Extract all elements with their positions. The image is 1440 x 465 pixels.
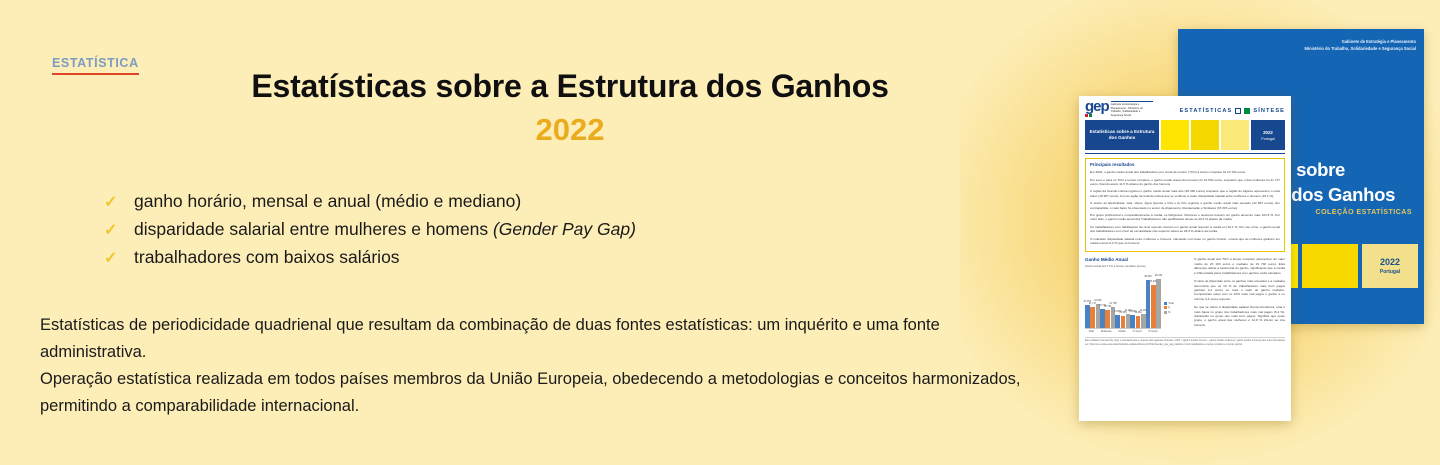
chart-bar-group: 13 85012 95514 100 [1115,314,1130,328]
gep-logo: gep Gabinete de Estratégia e Planeamento… [1085,101,1153,117]
sheet-band-country: Portugal [1261,137,1274,141]
square-outline-icon [1235,108,1241,114]
sheet-right-paragraph: O ganho anual dos TCO a tempo completo a… [1194,257,1285,275]
page-title: Estatísticas sobre a Estrutura dos Ganho… [120,68,1020,105]
page-subtitle-year: 2022 [120,112,1020,148]
sheet-title-band: Estatísticas sobre a Estrutura dos Ganho… [1085,120,1285,150]
chart-bar-value: 49 410 [1155,274,1162,277]
chart-bar-value: 48 546 [1144,275,1151,278]
chart-subtitle: Ganho anual dos TCO a tempo completo (eu… [1085,264,1189,268]
body-text-block: Estatísticas de periodicidade quadrienal… [40,312,1025,420]
bar-chart: 23 16321 71724 53019 74018 73421 79513 8… [1085,271,1189,333]
sheet-result-item: A região da Grande Lisboa registou o gan… [1090,189,1280,198]
chart-bar: 23 163 [1085,305,1090,328]
sheet-columns: Ganho Médio Anual Ganho anual dos TCO a … [1085,257,1285,333]
sheet-header-left-label: ESTATÍSTICAS [1180,108,1233,114]
sheet-band-year-block: 2022 Portugal [1251,120,1285,150]
list-item-label: trabalhadores com baixos salários [134,244,400,270]
sheet-result-item: Os trabalhadores com habilitações de nív… [1090,225,1280,234]
legend-swatch-icon [1164,302,1167,305]
list-item: ✓ ganho horário, mensal e anual (médio e… [104,188,636,216]
sheet-header: gep Gabinete de Estratégia e Planeamento… [1085,101,1285,117]
chart-bar-group: 13 85012 48114 180 [1130,314,1145,328]
chart-bar-value: 21 795 [1109,302,1116,305]
gep-logo-subtitle: Gabinete de Estratégia e Planeamento · M… [1111,101,1153,117]
sheet-right-paragraph: O rácio de dispersão entre os ganhos mai… [1194,279,1285,301]
sheet-divider [1085,153,1285,154]
check-icon: ✓ [104,218,134,244]
chart-legend-label: H [1168,306,1170,309]
chart-x-axis-labels: TotalMulheresMédia1º Decil9º Decil [1085,330,1161,333]
chart-plot-area: 23 16321 71724 53019 74018 73421 79513 8… [1085,273,1161,329]
chart-bar: 13 850 [1115,315,1120,329]
chart-legend: TotalHM [1164,302,1174,334]
chart-bar: 12 955 [1121,316,1126,329]
chart-bar-group: 23 16321 71724 530 [1085,304,1100,329]
sheet-header-right-label: SÍNTESE [1253,108,1285,114]
list-item: ✓ disparidade salarial entre mulheres e … [104,216,636,244]
gep-logo-mark: gep [1085,101,1109,113]
chart-bar: 48 546 [1146,280,1151,329]
chart-x-tick-label: Total [1088,330,1093,333]
chart-legend-item: M [1164,311,1174,314]
sheet-chart-column: Ganho Médio Anual Ganho anual dos TCO a … [1085,257,1189,333]
sheet-result-item: Em 2022, o ganho médio anual dos trabalh… [1090,170,1280,174]
summary-sheet-image: gep Gabinete de Estratégia e Planeamento… [1079,96,1291,421]
square-filled-icon [1244,108,1250,114]
chart-bar: 43 200 [1151,285,1156,328]
body-paragraph-2: Operação estatística realizada em todos … [40,366,1025,420]
list-item-label: disparidade salarial entre mulheres e ho… [134,216,636,242]
sheet-band-block-2 [1191,120,1219,150]
chart-bar: 12 481 [1136,316,1141,328]
chart-x-tick-label: 1º Decil [1133,330,1142,333]
sheet-result-item: O sector de Eletricidade, Gás, Vapor, Ág… [1090,201,1280,210]
sheet-band-year: 2022 [1263,130,1273,135]
legend-swatch-icon [1164,306,1167,309]
sheet-footnote: Este indicador (Gender Pay Gap) é calcul… [1085,337,1285,346]
sheet-band-block-1 [1161,120,1189,150]
sheet-band-block-3 [1221,120,1249,150]
sheet-header-labels: ESTATÍSTICAS SÍNTESE [1180,108,1285,114]
slide-root: ESTATÍSTICA Estatísticas sobre a Estrutu… [0,0,1440,465]
list-item-label: ganho horário, mensal e anual (médio e m… [134,188,521,214]
chart-legend-label: Total [1168,302,1173,305]
sheet-results-heading: Principais resultados [1090,162,1280,167]
chart-x-tick-label: 9º Decil [1148,330,1157,333]
chart-bar: 49 410 [1156,279,1161,328]
legend-swatch-icon [1164,311,1167,314]
cover-organisation: Gabinete de Estratégia e Planeamento Min… [1305,39,1416,52]
chart-bar-value: 24 530 [1094,299,1101,302]
chart-title: Ganho Médio Anual [1085,257,1189,262]
sheet-result-item: Por sexo e para os TCO a tempo completo,… [1090,178,1280,187]
chart-legend-item: Total [1164,302,1174,305]
sheet-text-column: O ganho anual dos TCO a tempo completo a… [1194,257,1285,333]
check-icon: ✓ [104,246,134,272]
chart-bar-group: 48 54643 20049 410 [1146,279,1161,328]
cover-collection-label: COLEÇÃO ESTATÍSTICAS [1316,209,1412,216]
sheet-right-paragraph: No que se refere à disparidade salarial … [1194,305,1285,327]
list-item: ✓ trabalhadores com baixos salários [104,244,636,272]
chart-bar: 13 850 [1130,315,1135,329]
cover-country: Portugal [1380,269,1400,275]
chart-legend-item: H [1164,306,1174,309]
cover-year: 2022 [1380,257,1400,267]
cover-organisation-line2: Ministério do Trabalho, Solidariedade e … [1305,46,1416,53]
chart-x-tick-label: Mulheres [1101,330,1112,333]
chart-x-tick-label: Média [1119,330,1126,333]
chart-bar: 19 740 [1100,309,1105,329]
chart-legend-label: M [1168,311,1170,314]
sheet-results-box: Principais resultados Em 2022, o ganho m… [1085,158,1285,252]
chart-bar: 18 734 [1105,310,1110,329]
feature-bullet-list: ✓ ganho horário, mensal e anual (médio e… [104,188,636,272]
sheet-result-item: Por grupo profissional e comparativament… [1090,213,1280,222]
sheet-band-title: Estatísticas sobre a Estrutura dos Ganho… [1085,120,1159,150]
check-icon: ✓ [104,190,134,216]
body-paragraph-1: Estatísticas de periodicidade quadrienal… [40,312,1025,366]
chart-bar: 21 717 [1090,307,1095,329]
sheet-result-item: O indicador disparidade salarial entre m… [1090,237,1280,246]
cover-square-year: 2022 Portugal [1362,244,1418,288]
cover-square-3 [1302,244,1358,288]
